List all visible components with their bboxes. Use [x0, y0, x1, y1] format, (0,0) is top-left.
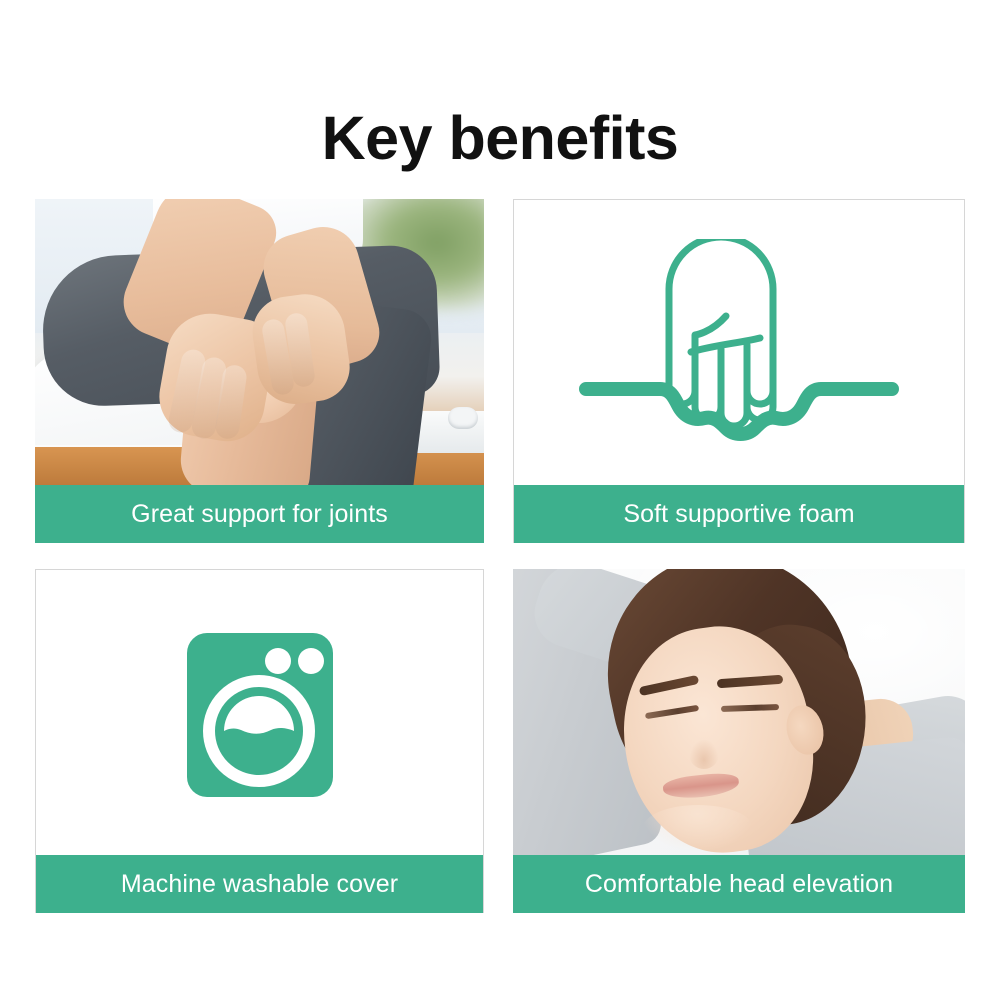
card-media [35, 199, 484, 485]
woman-resting-photo [513, 569, 965, 855]
washing-machine-icon [185, 631, 335, 799]
knee-support-photo [35, 199, 484, 485]
card-caption: Machine washable cover [35, 855, 484, 913]
card-caption: Great support for joints [35, 485, 484, 543]
hand-pressing-foam-icon [574, 239, 904, 454]
card-caption: Soft supportive foam [513, 485, 965, 543]
benefit-card-machine-washable-cover[interactable]: Machine washable cover [35, 569, 484, 913]
benefit-card-great-support-for-joints[interactable]: Great support for joints [35, 199, 484, 543]
key-benefits-page: Key benefits [0, 0, 1000, 1000]
card-media [514, 200, 964, 485]
card-media [36, 570, 483, 855]
page-title: Key benefits [0, 103, 1000, 173]
benefit-card-comfortable-head-elevation[interactable]: Comfortable head elevation [513, 569, 965, 913]
benefit-card-soft-supportive-foam[interactable]: Soft supportive foam [513, 199, 965, 543]
card-media [513, 569, 965, 855]
card-caption: Comfortable head elevation [513, 855, 965, 913]
